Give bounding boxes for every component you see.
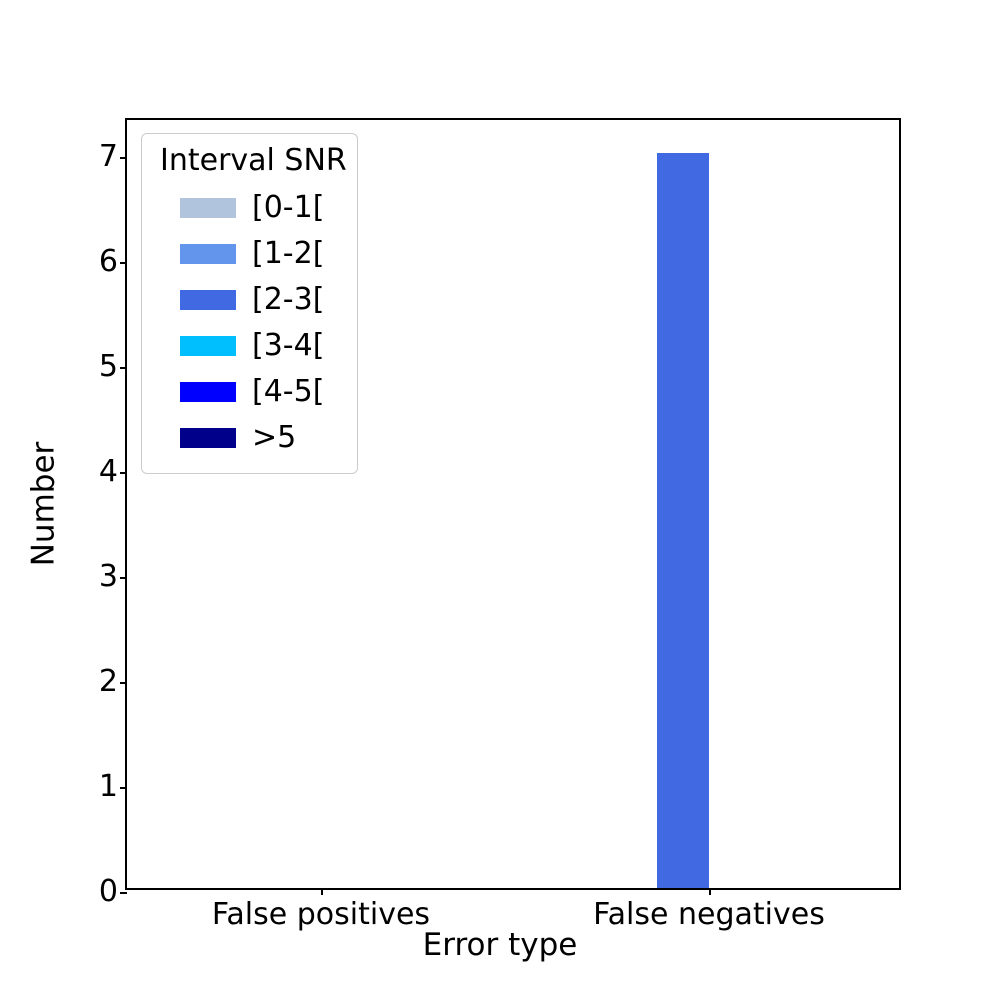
legend-item: >5 <box>156 415 343 461</box>
y-tick-label: 3 <box>99 562 118 592</box>
y-tick-mark <box>120 157 127 159</box>
x-tick-label: False negatives <box>593 900 825 930</box>
y-tick-mark <box>120 577 127 579</box>
legend-swatch <box>180 198 236 218</box>
y-tick-label: 7 <box>99 142 118 172</box>
y-tick-label: 6 <box>99 247 118 277</box>
legend-label: >5 <box>252 423 296 453</box>
legend-swatch <box>180 290 236 310</box>
bar-chart-figure: 01234567 False positivesFalse negatives … <box>0 0 1000 1000</box>
y-tick-mark <box>120 682 127 684</box>
x-axis-label: Error type <box>0 930 1000 961</box>
y-axis-label: Number <box>29 442 60 567</box>
legend-item: [1-2[ <box>156 231 343 277</box>
legend-item: [4-5[ <box>156 369 343 415</box>
legend-label: [3-4[ <box>252 331 324 361</box>
legend: Interval SNR [0-1[[1-2[[2-3[[3-4[[4-5[>5 <box>141 133 358 474</box>
legend-swatch <box>180 336 236 356</box>
legend-label: [0-1[ <box>252 193 324 223</box>
y-tick-mark <box>120 892 127 894</box>
x-tick-label: False positives <box>212 900 430 930</box>
legend-item: [2-3[ <box>156 277 343 323</box>
legend-label: [4-5[ <box>252 377 324 407</box>
x-tick-mark <box>709 888 711 895</box>
legend-swatch <box>180 244 236 264</box>
legend-label: [2-3[ <box>252 285 324 315</box>
x-tick-mark <box>321 888 323 895</box>
y-tick-mark <box>120 367 127 369</box>
y-tick-label: 2 <box>99 667 118 697</box>
legend-swatch <box>180 428 236 448</box>
legend-swatch <box>180 382 236 402</box>
legend-title: Interval SNR <box>156 144 343 179</box>
y-tick-label: 5 <box>99 352 118 382</box>
y-tick-mark <box>120 472 127 474</box>
y-tick-label: 1 <box>99 772 118 802</box>
legend-label: [1-2[ <box>252 239 324 269</box>
legend-item: [0-1[ <box>156 185 343 231</box>
legend-item: [3-4[ <box>156 323 343 369</box>
y-tick-label: 4 <box>99 457 118 487</box>
bar <box>657 153 709 888</box>
y-tick-label: 0 <box>99 877 118 907</box>
y-tick-mark <box>120 787 127 789</box>
y-tick-mark <box>120 262 127 264</box>
legend-entries: [0-1[[1-2[[2-3[[3-4[[4-5[>5 <box>156 185 343 461</box>
